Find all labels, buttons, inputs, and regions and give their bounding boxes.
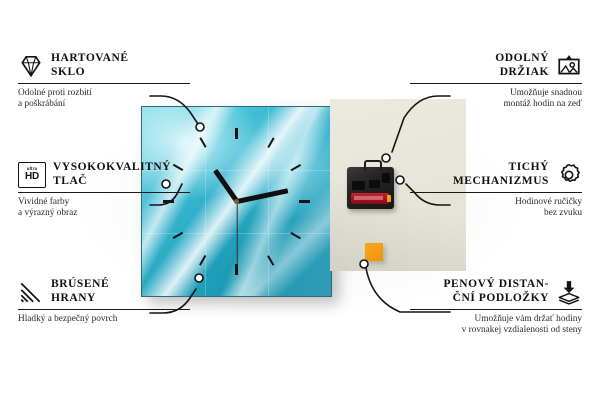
node-right-bottom xyxy=(360,260,368,268)
feature-foam-spacers: PENOVÝ DISTAN- ČNÍ PODLOŽKY Umožňuje vám… xyxy=(410,278,582,337)
feature-description: Umožňuje snadnou montáž hodin na zeď xyxy=(410,88,582,111)
feature-beveled-edges: BRÚSENÉ HRANY Hladký a bezpečný povrch xyxy=(18,278,190,325)
feature-title-line2: HRANY xyxy=(51,292,96,304)
gear-icon xyxy=(556,162,582,188)
feature-divider xyxy=(18,309,190,310)
ultra-hd-badge-icon: ultra HD xyxy=(18,162,46,188)
feature-header: BRÚSENÉ HRANY xyxy=(18,278,190,305)
feature-title-line1: PENOVÝ DISTAN- xyxy=(443,278,549,290)
feature-title: TICHÝ MECHANIZMUS xyxy=(453,161,549,188)
node-right-middle xyxy=(396,176,404,184)
feature-header: ODOLNÝ DRŽIAK xyxy=(410,52,582,79)
feature-title: BRÚSENÉ HRANY xyxy=(51,278,109,305)
feature-description: Umožňuje vám držať hodiny v rovnakej vzd… xyxy=(410,314,582,337)
feature-desc-line2: a výrazný obraz xyxy=(18,208,77,218)
feature-desc-line2: montáž hodin na zeď xyxy=(503,99,582,109)
feature-description: Hodinové ručičky bez zvuku xyxy=(410,197,582,220)
infographic-canvas: HARTOVANÉ SKLO Odolné proti rozbití a po… xyxy=(0,0,600,400)
feature-desc-line1: Hodinové ručičky xyxy=(515,197,582,207)
feature-divider xyxy=(410,192,582,193)
feature-title-line2: ČNÍ PODLOŽKY xyxy=(453,292,549,304)
feature-description: Hladký a bezpečný povrch xyxy=(18,314,190,325)
feature-silent-mechanism: TICHÝ MECHANIZMUS Hodinové ručičky bez z… xyxy=(410,161,582,220)
feature-title-line2: MECHANIZMUS xyxy=(453,175,549,187)
feature-durable-hanger: ODOLNÝ DRŽIAK Umožňuje snadnou montáž ho… xyxy=(410,52,582,111)
feature-desc-line1: Vividné farby xyxy=(18,197,69,207)
feature-description: Odolné proti rozbití a poškrábání xyxy=(18,88,190,111)
beveled-edges-icon xyxy=(18,279,44,305)
feature-hd-print: ultra HD VYSOKOKVALITNÝ TLAČ Vividné far… xyxy=(18,161,190,220)
feature-divider xyxy=(410,309,582,310)
feature-desc-line2: bez zvuku xyxy=(544,208,582,218)
feature-title: VYSOKOKVALITNÝ TLAČ xyxy=(53,161,171,188)
feature-title-line1: HARTOVANÉ xyxy=(51,52,129,64)
feature-header: HARTOVANÉ SKLO xyxy=(18,52,190,79)
feature-title-line1: VYSOKOKVALITNÝ xyxy=(53,161,171,173)
feature-title-line1: BRÚSENÉ xyxy=(51,278,109,290)
feature-desc-line1: Hladký a bezpečný povrch xyxy=(18,314,117,324)
feature-desc-line1: Odolné proti rozbití xyxy=(18,88,92,98)
feature-description: Vividné farby a výrazný obraz xyxy=(18,197,190,220)
wall-hanger-frame-icon xyxy=(556,53,582,79)
feature-header: TICHÝ MECHANIZMUS xyxy=(410,161,582,188)
feature-title: ODOLNÝ DRŽIAK xyxy=(495,52,549,79)
feature-divider xyxy=(410,83,582,84)
feature-title-line2: TLAČ xyxy=(53,175,87,187)
feature-divider xyxy=(18,83,190,84)
feature-tempered-glass: HARTOVANÉ SKLO Odolné proti rozbití a po… xyxy=(18,52,190,111)
feature-title-line1: TICHÝ xyxy=(509,161,549,173)
feature-divider xyxy=(18,192,190,193)
feature-title: PENOVÝ DISTAN- ČNÍ PODLOŽKY xyxy=(443,278,549,305)
feature-header: PENOVÝ DISTAN- ČNÍ PODLOŽKY xyxy=(410,278,582,305)
node-left-top xyxy=(196,123,204,131)
diamond-icon xyxy=(18,53,44,79)
feature-title-line2: DRŽIAK xyxy=(500,66,549,78)
node-left-bottom xyxy=(195,274,203,282)
feature-desc-line1: Umožňuje snadnou xyxy=(510,88,582,98)
badge-large-text: HD xyxy=(25,172,39,182)
feature-desc-line1: Umožňuje vám držať hodiny xyxy=(475,314,583,324)
feature-title-line1: ODOLNÝ xyxy=(495,52,549,64)
feature-title-line2: SKLO xyxy=(51,66,85,78)
feature-header: ultra HD VYSOKOKVALITNÝ TLAČ xyxy=(18,161,190,188)
feature-title: HARTOVANÉ SKLO xyxy=(51,52,129,79)
feature-desc-line2: v rovnakej vzdialenosti od steny xyxy=(462,325,582,335)
feature-desc-line2: a poškrábání xyxy=(18,99,65,109)
node-right-top xyxy=(382,154,390,162)
foam-spacer-icon xyxy=(556,279,582,305)
